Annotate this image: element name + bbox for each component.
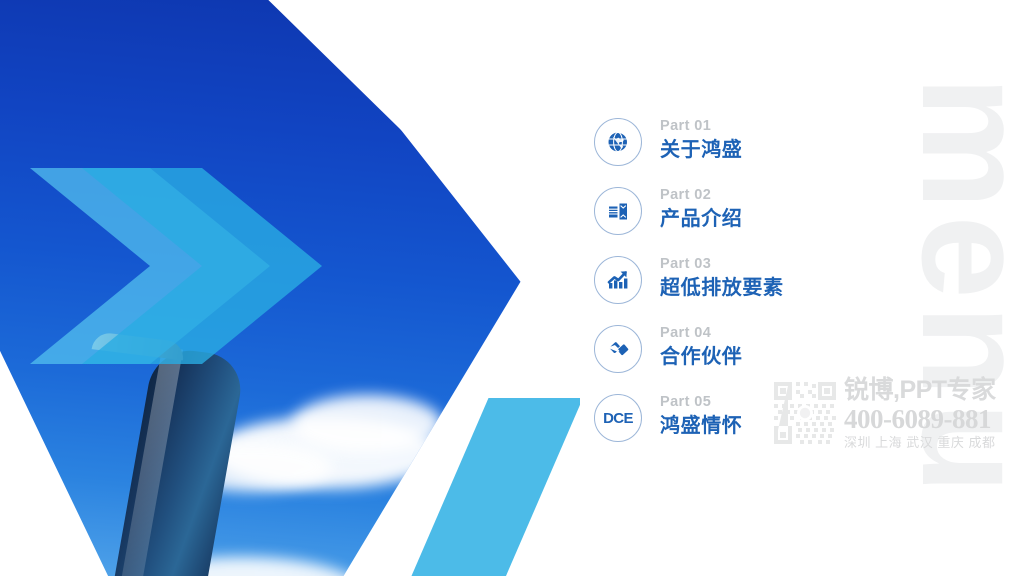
left-visual-composition [0,0,580,576]
menu-item-part-label: Part 05 [660,392,742,412]
menu-item-title: 关于鸿盛 [660,137,742,164]
menu-item-title: 产品介绍 [660,206,742,233]
menu-item-part-label: Part 02 [660,185,742,205]
menu-item-title: 超低排放要素 [660,275,784,302]
menu-item-text: Part 03 超低排放要素 [660,254,784,302]
menu-item-text: Part 02 产品介绍 [660,185,742,233]
watermark: 锐博,PPT专家 400-6089-881 深圳 上海 武汉 重庆 成都 [772,374,1024,466]
presentation-slide: menu Part 01 关于鸿盛 [0,0,1024,576]
menu-item-part-label: Part 01 [660,116,742,136]
product-box-icon [594,187,642,235]
menu-item-text: Part 05 鸿盛情怀 [660,392,742,440]
vertical-wordmark: menu [920,0,1024,576]
handshake-icon [594,325,642,373]
menu-item-part-01[interactable]: Part 01 关于鸿盛 [594,118,924,187]
menu-item-text: Part 01 关于鸿盛 [660,116,742,164]
menu-item-part-label: Part 03 [660,254,784,274]
qr-code-icon [772,380,838,446]
globe-icon [594,118,642,166]
menu-item-part-label: Part 04 [660,323,742,343]
dce-logo-text: DCE [603,410,633,427]
cloud-icon [292,395,442,453]
menu-item-title: 合作伙伴 [660,344,742,371]
watermark-cities: 深圳 上海 武汉 重庆 成都 [844,434,996,452]
growth-chart-icon [594,256,642,304]
watermark-brand: 锐博,PPT专家 [844,376,996,405]
menu-item-title: 鸿盛情怀 [660,413,742,440]
watermark-phone: 400-6089-881 [844,405,996,434]
menu-item-text: Part 04 合作伙伴 [660,323,742,371]
dce-logo-icon: DCE [594,394,642,442]
watermark-text-block: 锐博,PPT专家 400-6089-881 深圳 上海 武汉 重庆 成都 [844,376,996,452]
menu-item-part-02[interactable]: Part 02 产品介绍 [594,187,924,256]
menu-item-part-03[interactable]: Part 03 超低排放要素 [594,256,924,325]
